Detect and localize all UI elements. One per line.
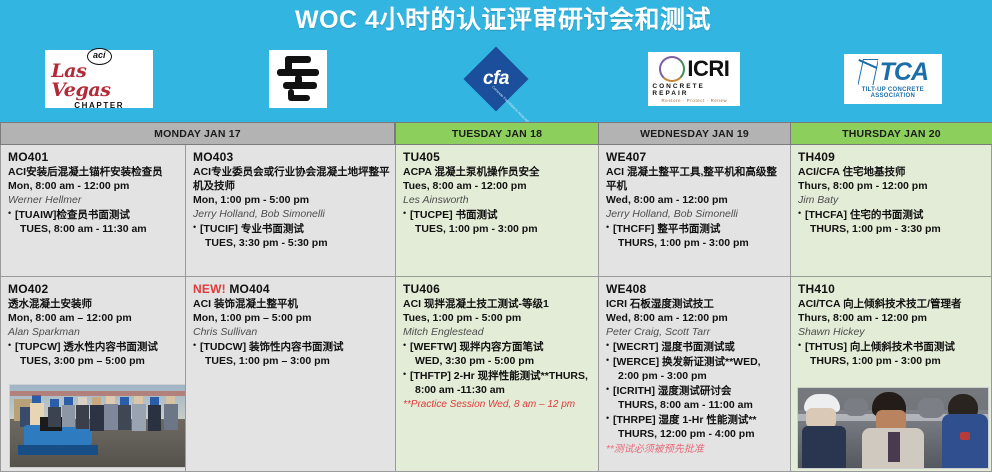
session-cell-mo402[interactable]: MO402 透水混凝土安装师 Mon, 8:00 am – 12:00 pm A… [0,277,185,472]
session-title: ACI 装饰混凝土整平机 [193,297,390,311]
exam-title: [WEFTW] 现拌内容方面笔试 [410,340,593,354]
logo-slot-ascc [198,50,396,108]
session-title: ACI 混凝土整平工具,整平机和高级整平机 [606,165,785,193]
exam-title: [THFTP] 2-Hr 现拌性能测试**THURS, [410,369,593,383]
new-badge: NEW! [193,282,226,296]
session-instructor: Jim Baty [798,193,986,207]
exam-time: THURS, 8:00 am - 11:00 am [613,398,785,412]
pre-approval-note: **测试必须被预先批准 [606,443,785,456]
session-instructor: Mitch Englestead [403,325,593,339]
tca-logo: TCA TILT-UP CONCRETE ASSOCIATION [844,54,942,104]
exam-time: TUES, 1:00 pm - 3:00 pm [410,222,593,236]
session-instructor: Jerry Holland, Bob Simonelli [193,207,390,221]
exam-time: TUES, 3:30 pm - 5:30 pm [200,236,390,250]
session-title: ACI专业委员会或行业协会混凝土地坪整平机及技师 [193,165,390,193]
session-code: TU405 [403,151,593,164]
cfa-wordmark: cfa [464,47,528,111]
session-time: Mon, 1:00 pm - 5:00 pm [193,193,390,207]
session-time: Tues, 8:00 am - 12:00 pm [403,179,593,193]
icri-row: ICRI [659,56,729,82]
exam-time: 2:00 pm - 3:00 pm [613,369,785,383]
column-header-wednesday: WEDNESDAY JAN 19 [598,122,790,145]
exam-time: THURS, 1:00 pm - 3:00 pm [805,354,986,368]
tca-wordmark: TCA [880,60,928,85]
session-exams: [TUDCW] 装饰性内容书面测试 TUES, 1:00 pm – 3:00 p… [193,340,390,368]
session-title: ACPA 混凝土泵机操作员安全 [403,165,593,179]
session-title: ACI/TCA 向上倾斜技术技工/管理者 [798,297,986,311]
exam-time: TUES, 3:00 pm – 5:00 pm [15,354,180,368]
session-code: WE407 [606,151,785,164]
exam-item: [ICRITH] 湿度测试研讨会 THURS, 8:00 am - 11:00 … [606,384,785,412]
exam-item: [TUPCW] 透水性内容书面测试 TUES, 3:00 pm – 5:00 p… [8,340,180,368]
exam-title: [THRPE] 湿度 1-Hr 性能测试** [613,413,785,427]
exam-item: [THCFA] 住宅的书面测试 THURS, 1:00 pm - 3:30 pm [798,208,986,236]
session-title: ACI安装后混凝土锚杆安装检查员 [8,165,180,179]
session-instructor: Werner Hellmer [8,193,180,207]
session-code-text: MO404 [229,282,269,296]
exam-time: TUES, 1:00 pm – 3:00 pm [200,354,390,368]
exam-time: 8:00 am -11:30 am [410,383,593,397]
session-time: Thurs, 8:00 pm - 12:00 pm [798,179,986,193]
session-time: Tues, 1:00 pm - 5:00 pm [403,311,593,325]
session-instructor: Peter Craig, Scott Tarr [606,325,785,339]
session-code: TH410 [798,283,986,296]
tca-subtitle: TILT-UP CONCRETE ASSOCIATION [848,87,938,99]
exam-title: [WERCE] 换发新证测试**WED, [613,355,785,369]
exam-item: [WECRT] 湿度书面测试或 [606,340,785,354]
session-exams: [WECRT] 湿度书面测试或 [WERCE] 换发新证测试**WED, 2:0… [606,340,785,441]
session-instructor: Les Ainsworth [403,193,593,207]
exam-title: [ICRITH] 湿度测试研讨会 [613,384,785,398]
session-exams: [THCFA] 住宅的书面测试 THURS, 1:00 pm - 3:30 pm [798,208,986,236]
session-exams: [THTUS] 向上倾斜技术书面测试 THURS, 1:00 pm - 3:00… [798,340,986,368]
exam-title: [THCFA] 住宅的书面测试 [805,208,986,222]
session-title: ACI 现拌混凝土技工测试-等级1 [403,297,593,311]
session-time: Thurs, 8:00 am - 12:00 pm [798,311,986,325]
column-header-thursday: THURSDAY JAN 20 [790,122,992,145]
session-cell-mo403[interactable]: MO403 ACI专业委员会或行业协会混凝土地坪整平机及技师 Mon, 1:00… [185,145,395,277]
exam-item: [THRPE] 湿度 1-Hr 性能测试** THURS, 12:00 pm -… [606,413,785,441]
session-code: MO402 [8,283,180,296]
session-title: ACI/CFA 住宅地基技师 [798,165,986,179]
logo-slot-cfa: cfa Concrete Foundations Association [397,47,595,111]
chapter-label: CHAPTER [74,101,124,110]
session-cell-we407[interactable]: WE407 ACI 混凝土整平工具,整平机和高级整平机 Wed, 8:00 am… [598,145,790,277]
session-cell-we408[interactable]: WE408 ICRI 石板湿度测试技工 Wed, 8:00 am - 12:00… [598,277,790,472]
photo-classroom-attendees [797,387,989,469]
exam-item: [THFTP] 2-Hr 现拌性能测试**THURS, 8:00 am -11:… [403,369,593,397]
exam-item: [TUDCW] 装饰性内容书面测试 TUES, 1:00 pm – 3:00 p… [193,340,390,368]
ascc-mark-icon [275,55,321,103]
page-title: WOC 4小时的认证评审研讨会和测试 [0,5,992,35]
exam-item: [TUAIW]检查员书面测试 TUES, 8:00 am - 11:30 am [8,208,180,236]
session-exams: [THCFF] 整平书面测试 THURS, 1:00 pm - 3:00 pm [606,222,785,250]
session-code: TU406 [403,283,593,296]
aci-las-vegas-chapter-logo: aci Las Vegas CHAPTER [45,50,153,108]
session-time: Wed, 8:00 am - 12:00 pm [606,193,785,207]
exam-item: [THCFF] 整平书面测试 THURS, 1:00 pm - 3:00 pm [606,222,785,250]
exam-title: [WECRT] 湿度书面测试或 [613,340,785,354]
icri-tagline: Restore · Protect · Renew [662,98,728,103]
session-title: ICRI 石板湿度测试技工 [606,297,785,311]
exam-time: TUES, 8:00 am - 11:30 am [15,222,180,236]
column-header-tuesday: TUESDAY JAN 18 [395,122,598,145]
session-code: TH409 [798,151,986,164]
exam-title: [TUCPE] 书面测试 [410,208,593,222]
session-cell-mo401[interactable]: MO401 ACI安装后混凝土锚杆安装检查员 Mon, 8:00 am - 12… [0,145,185,277]
session-instructor: Shawn Hickey [798,325,986,339]
schedule-grid: MONDAY JAN 17 TUESDAY JAN 18 WEDNESDAY J… [0,122,992,472]
practice-session-note: **Practice Session Wed, 8 am – 12 pm [403,398,593,411]
icri-logo: ICRI CONCRETE REPAIR Restore · Protect ·… [648,52,740,106]
column-header-monday: MONDAY JAN 17 [0,122,395,145]
logo-strip: aci Las Vegas CHAPTER [0,42,992,116]
photo-power-trowel-demo [9,384,185,468]
session-time: Mon, 1:00 pm – 5:00 pm [193,311,390,325]
session-instructor: Jerry Holland, Bob Simonelli [606,207,785,221]
session-exams: [TUPCW] 透水性内容书面测试 TUES, 3:00 pm – 5:00 p… [8,340,180,368]
exam-title: [THCFF] 整平书面测试 [613,222,785,236]
exam-item: [TUCIF] 专业书面测试 TUES, 3:30 pm - 5:30 pm [193,222,390,250]
session-exams: [TUCIF] 专业书面测试 TUES, 3:30 pm - 5:30 pm [193,222,390,250]
session-cell-mo404[interactable]: NEW! MO404 ACI 装饰混凝土整平机 Mon, 1:00 pm – 5… [185,277,395,472]
exam-item: [WEFTW] 现拌内容方面笔试 WED, 3:30 pm - 5:00 pm [403,340,593,368]
exam-time: THURS, 12:00 pm - 4:00 pm [613,427,785,441]
session-code: NEW! MO404 [193,283,390,296]
exam-time: WED, 3:30 pm - 5:00 pm [410,354,593,368]
logo-slot-tca: TCA TILT-UP CONCRETE ASSOCIATION [794,54,992,104]
session-code: MO403 [193,151,390,164]
session-exams: [WEFTW] 现拌内容方面笔试 WED, 3:30 pm - 5:00 pm … [403,340,593,397]
ascc-logo [269,50,327,108]
session-exams: [TUCPE] 书面测试 TUES, 1:00 pm - 3:00 pm [403,208,593,236]
session-time: Mon, 8:00 am - 12:00 pm [8,179,180,193]
exam-time: THURS, 1:00 pm - 3:00 pm [613,236,785,250]
exam-item: [TUCPE] 书面测试 TUES, 1:00 pm - 3:00 pm [403,208,593,236]
exam-item: [WERCE] 换发新证测试**WED, 2:00 pm - 3:00 pm [606,355,785,383]
session-instructor: Chris Sullivan [193,325,390,339]
logo-slot-icri: ICRI CONCRETE REPAIR Restore · Protect ·… [595,52,793,106]
session-cell-th409[interactable]: TH409 ACI/CFA 住宅地基技师 Thurs, 8:00 pm - 12… [790,145,992,277]
exam-time: THURS, 1:00 pm - 3:30 pm [805,222,986,236]
session-instructor: Alan Sparkman [8,325,180,339]
cfa-logo: cfa Concrete Foundations Association [464,47,528,111]
las-vegas-script: Las Vegas [51,62,147,100]
icri-subtitle: CONCRETE REPAIR [652,83,736,97]
woc-schedule-page: WOC 4小时的认证评审研讨会和测试 aci Las Vegas CHAPTER [0,0,992,472]
logo-slot-aci: aci Las Vegas CHAPTER [0,50,198,108]
session-time: Wed, 8:00 am - 12:00 pm [606,311,785,325]
exam-item: [THTUS] 向上倾斜技术书面测试 THURS, 1:00 pm - 3:00… [798,340,986,368]
session-code: MO401 [8,151,180,164]
tca-row: TCA [858,59,928,85]
icri-wordmark: ICRI [687,58,729,80]
exam-title: [TUCIF] 专业书面测试 [200,222,390,236]
session-cell-tu405[interactable]: TU405 ACPA 混凝土泵机操作员安全 Tues, 8:00 am - 12… [395,145,598,277]
exam-title: [THTUS] 向上倾斜技术书面测试 [805,340,986,354]
session-cell-tu406[interactable]: TU406 ACI 现拌混凝土技工测试-等级1 Tues, 1:00 pm - … [395,277,598,472]
icri-swirl-icon [659,56,685,82]
exam-title: [TUDCW] 装饰性内容书面测试 [200,340,390,354]
exam-title: [TUPCW] 透水性内容书面测试 [15,340,180,354]
session-exams: [TUAIW]检查员书面测试 TUES, 8:00 am - 11:30 am [8,208,180,236]
session-code: WE408 [606,283,785,296]
session-cell-th410[interactable]: TH410 ACI/TCA 向上倾斜技术技工/管理者 Thurs, 8:00 a… [790,277,992,472]
exam-title: [TUAIW]检查员书面测试 [15,208,180,222]
session-time: Mon, 8:00 am – 12:00 pm [8,311,180,325]
session-title: 透水混凝土安装师 [8,297,180,311]
tilt-up-panel-icon [858,59,878,85]
banner: WOC 4小时的认证评审研讨会和测试 aci Las Vegas CHAPTER [0,0,992,122]
